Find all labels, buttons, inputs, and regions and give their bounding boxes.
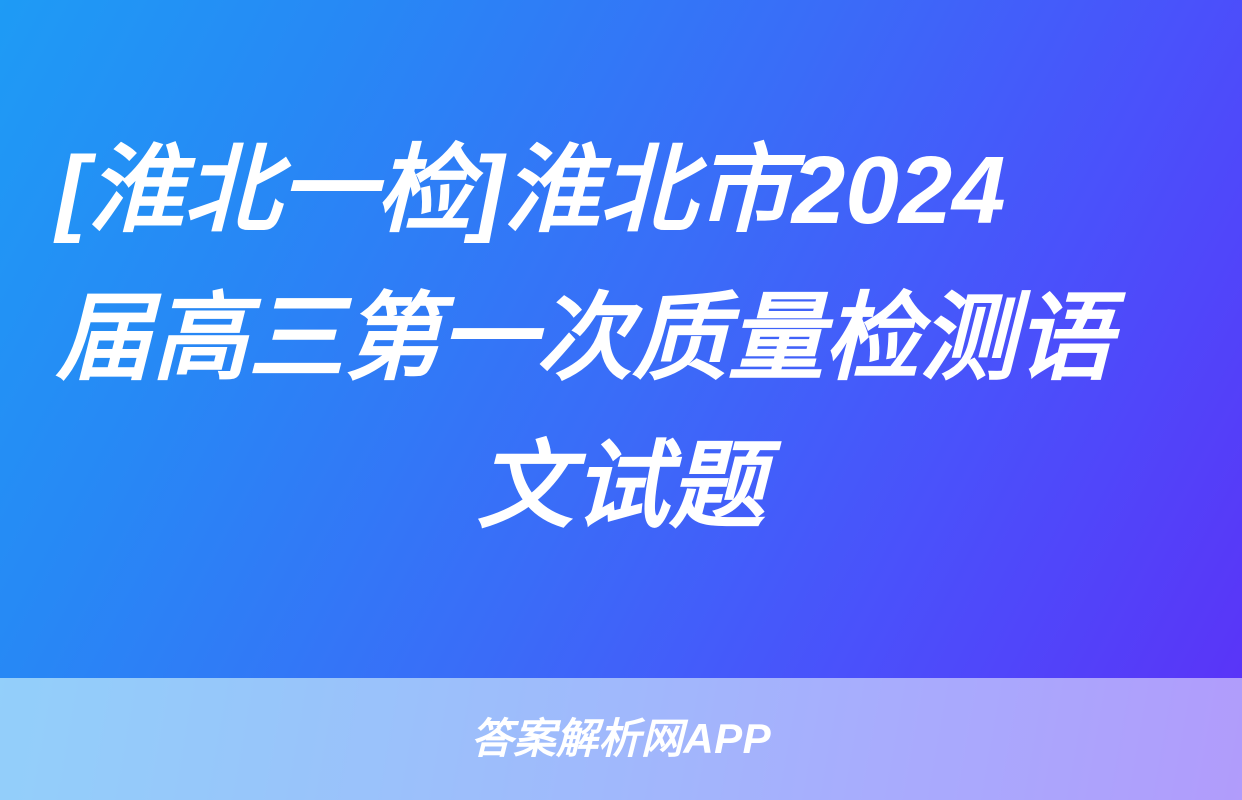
- exam-title-poster: [淮北一检]淮北市2024 届高三第一次质量检测语 文试题 答案解析网APP: [0, 0, 1242, 800]
- title-area: [淮北一检]淮北市2024 届高三第一次质量检测语 文试题: [0, 0, 1242, 678]
- title-line-2: 届高三第一次质量检测语: [56, 265, 1186, 413]
- page-title: [淮北一检]淮北市2024 届高三第一次质量检测语 文试题: [56, 117, 1186, 561]
- footer-brand-band: 答案解析网APP: [0, 678, 1242, 800]
- title-line-1: [淮北一检]淮北市2024: [56, 117, 1186, 265]
- title-line-3: 文试题: [56, 413, 1186, 561]
- brand-name-label: 答案解析网APP: [471, 718, 771, 760]
